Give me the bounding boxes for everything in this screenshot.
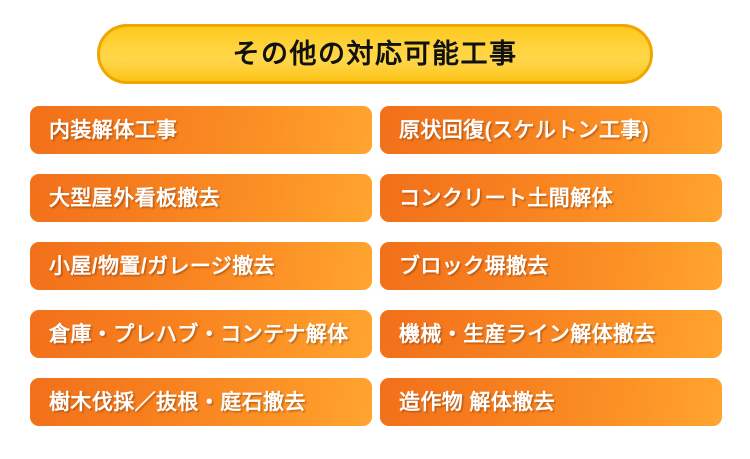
service-item-label: 原状回復(スケルトン工事) <box>399 120 649 141</box>
other-services-panel: その他の対応可能工事 内装解体工事 原状回復(スケルトン工事) 大型屋外看板撤去… <box>0 0 750 459</box>
service-item-5[interactable]: 小屋/物置/ガレージ撤去 <box>30 242 372 290</box>
service-item-label: 倉庫・プレハブ・コンテナ解体 <box>49 324 349 345</box>
service-item-label: ブロック塀撤去 <box>399 256 549 277</box>
service-item-8[interactable]: 機械・生産ライン解体撤去 <box>380 310 722 358</box>
service-item-1[interactable]: 内装解体工事 <box>30 106 372 154</box>
service-item-label: 小屋/物置/ガレージ撤去 <box>49 256 275 277</box>
service-item-label: 樹木伐採／抜根・庭石撤去 <box>49 392 306 413</box>
page-title: その他の対応可能工事 <box>233 41 518 68</box>
panel-header: その他の対応可能工事 <box>0 24 750 84</box>
service-item-label: 機械・生産ライン解体撤去 <box>399 324 656 345</box>
service-item-label: 内装解体工事 <box>49 120 177 141</box>
service-item-4[interactable]: コンクリート土間解体 <box>380 174 722 222</box>
service-item-label: 大型屋外看板撤去 <box>49 188 220 209</box>
service-item-label: 造作物 解体撤去 <box>399 392 555 413</box>
service-item-3[interactable]: 大型屋外看板撤去 <box>30 174 372 222</box>
service-item-label: コンクリート土間解体 <box>399 188 613 209</box>
service-item-6[interactable]: ブロック塀撤去 <box>380 242 722 290</box>
service-item-10[interactable]: 造作物 解体撤去 <box>380 378 722 426</box>
service-list: 内装解体工事 原状回復(スケルトン工事) 大型屋外看板撤去 コンクリート土間解体… <box>30 106 722 426</box>
service-item-2[interactable]: 原状回復(スケルトン工事) <box>380 106 722 154</box>
service-item-7[interactable]: 倉庫・プレハブ・コンテナ解体 <box>30 310 372 358</box>
service-item-9[interactable]: 樹木伐採／抜根・庭石撤去 <box>30 378 372 426</box>
header-banner: その他の対応可能工事 <box>97 24 653 84</box>
